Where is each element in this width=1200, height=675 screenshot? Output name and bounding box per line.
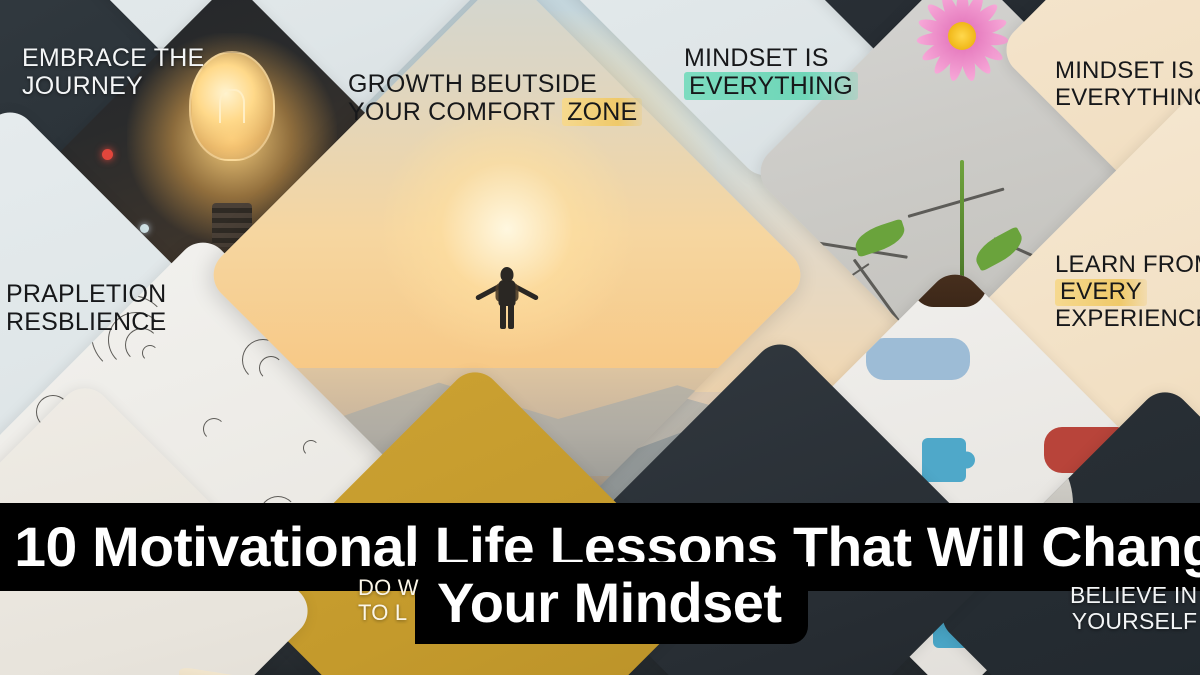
caption-praple-resilience: PRAPLETION RESBLIENCE [6, 280, 166, 336]
spiral-doodle-icon [203, 418, 225, 440]
caption-highlight-zone: ZONE [562, 98, 642, 126]
caption-mindset-everything-plain: MINDSET IS EVERYTHING [1055, 58, 1200, 112]
caption-highlight-everything: EVERYTHING [684, 72, 858, 100]
concrete-crack-icon [908, 188, 1005, 218]
caption-line-text: YOUR COMFORT [348, 98, 562, 126]
caption-line: DO W [358, 576, 419, 601]
flower-stem [960, 160, 964, 280]
spiral-doodle-icon [142, 345, 158, 361]
caption-line: EVERYTHING [1055, 85, 1200, 112]
thumbnail-canvas: EMBRACE THE JOURNEY GROWTH BEUTSIDE YOUR… [0, 0, 1200, 675]
caption-line: TO L [358, 601, 419, 626]
caption-growth-comfort-zone: GROWTH BEUTSIDE YOUR COMFORT ZONE [348, 70, 642, 126]
caption-mindset-everything-mint: MINDSET IS EVERYTHING [684, 44, 858, 100]
hiker-leg-left [500, 304, 506, 329]
flower-head-icon [914, 0, 1010, 84]
spark-particle-icon [102, 149, 113, 160]
hiker-leg-right [508, 304, 514, 329]
caption-line: JOURNEY [22, 72, 204, 100]
puzzle-piece-icon [922, 438, 966, 482]
spiral-doodle-icon [303, 440, 319, 456]
lightbulb-filament-icon [219, 89, 245, 123]
caption-line: MINDSET IS [684, 44, 858, 72]
caption-line: YOURSELF [1070, 609, 1197, 635]
headline-line-2: Your Mindset [415, 562, 808, 644]
caption-line: EVERY [1055, 279, 1200, 306]
caption-line: EMBRACE THE [22, 44, 204, 72]
caption-do-what-it-takes: DO W TO L [358, 576, 419, 625]
caption-line: EVERYTHING [684, 72, 858, 100]
caption-line: YOUR COMFORT ZONE [348, 98, 642, 126]
caption-line: BELIEVE IN [1070, 583, 1197, 609]
caption-line: LEARN FROM [1055, 252, 1200, 279]
caption-embrace-journey: EMBRACE THE JOURNEY [22, 44, 204, 100]
hiker-torso [499, 280, 516, 306]
hiker-head [501, 267, 514, 282]
caption-line: GROWTH BEUTSIDE [348, 70, 642, 98]
flower-center [948, 22, 976, 50]
caption-highlight-every: EVERY [1055, 279, 1147, 306]
spiral-doodle-icon [259, 356, 283, 380]
caption-line: MINDSET IS [1055, 58, 1200, 85]
caption-believe-in-yourself: BELIEVE IN YOURSELF [1070, 583, 1197, 635]
hiker-silhouette-icon [479, 267, 535, 329]
caption-learn-from-every-experience: LEARN FROM EVERY EXPERIENCE [1055, 252, 1200, 333]
caption-line: RESBLIENCE [6, 308, 166, 336]
caption-line: EXPERIENCE [1055, 306, 1200, 333]
person-top-sleeve [866, 338, 970, 380]
caption-line: PRAPLETION [6, 280, 166, 308]
